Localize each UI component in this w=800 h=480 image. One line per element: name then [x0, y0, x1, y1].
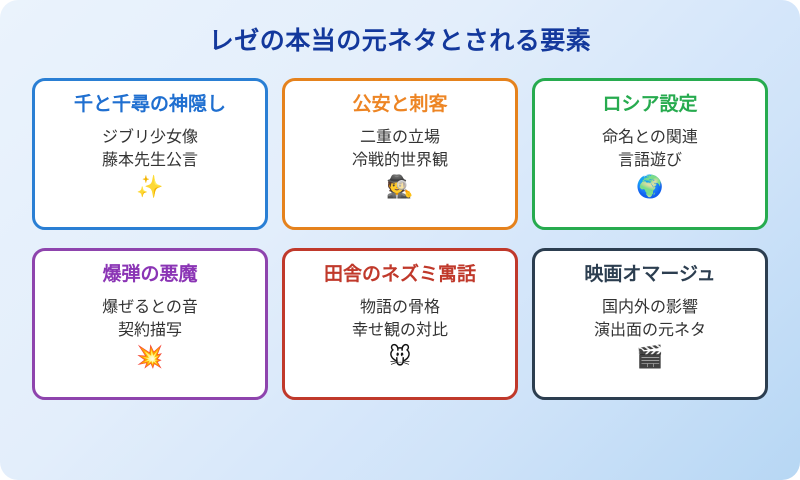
- infographic-root: レゼの本当の元ネタとされる要素 千と千尋の神隠し ジブリ少女像 藤本先生公言 ✨…: [0, 0, 800, 480]
- card-lines: 命名との関連 言語遊び: [602, 127, 698, 172]
- card-title: ロシア設定: [602, 94, 697, 116]
- card-lines: 二重の立場 冷戦的世界観: [352, 127, 448, 172]
- card-line: 二重の立場: [360, 127, 440, 149]
- card-lines: 物語の骨格 幸せ観の対比: [352, 297, 448, 342]
- card-line: 冷戦的世界観: [352, 150, 448, 172]
- card-title: 映画オマージュ: [584, 264, 715, 286]
- card-lines: 爆ぜるとの音 契約描写: [102, 297, 198, 342]
- card-line: 物語の骨格: [360, 297, 440, 319]
- card-title: 田舎のネズミ寓話: [324, 264, 476, 286]
- card-line: 言語遊び: [618, 150, 682, 172]
- card-line: 命名との関連: [602, 127, 698, 149]
- card-title: 公安と刺客: [352, 94, 447, 116]
- card-line: 演出面の元ネタ: [594, 320, 706, 342]
- card-title: 爆弾の悪魔: [102, 264, 197, 286]
- card-line: 国内外の影響: [602, 297, 698, 319]
- globe-icon: 🌍: [636, 177, 663, 199]
- card-line: 幸せ観の対比: [352, 320, 448, 342]
- card-lines: ジブリ少女像 藤本先生公言: [102, 127, 198, 172]
- detective-icon: 🕵: [386, 177, 413, 199]
- card-chihiro: 千と千尋の神隠し ジブリ少女像 藤本先生公言 ✨: [32, 78, 268, 230]
- page-title: レゼの本当の元ネタとされる要素: [209, 0, 592, 56]
- card-russia-setting: ロシア設定 命名との関連 言語遊び 🌍: [532, 78, 768, 230]
- card-country-mouse-fable: 田舎のネズミ寓話 物語の骨格 幸せ観の対比 🐭: [282, 248, 518, 400]
- card-film-homage: 映画オマージュ 国内外の影響 演出面の元ネタ 🎬: [532, 248, 768, 400]
- card-line: 契約描写: [118, 320, 182, 342]
- clapper-board-icon: 🎬: [636, 347, 663, 369]
- card-public-safety: 公安と刺客 二重の立場 冷戦的世界観 🕵: [282, 78, 518, 230]
- mouse-face-icon: 🐭: [389, 347, 412, 369]
- cards-grid: 千と千尋の神隠し ジブリ少女像 藤本先生公言 ✨ 公安と刺客 二重の立場 冷戦的…: [32, 78, 768, 400]
- card-line: ジブリ少女像: [102, 127, 198, 149]
- sparkles-icon: ✨: [136, 177, 163, 199]
- card-line: 藤本先生公言: [102, 150, 198, 172]
- explosion-icon: 💥: [136, 347, 163, 369]
- card-title: 千と千尋の神隠し: [74, 94, 226, 116]
- card-lines: 国内外の影響 演出面の元ネタ: [594, 297, 706, 342]
- card-bomb-devil: 爆弾の悪魔 爆ぜるとの音 契約描写 💥: [32, 248, 268, 400]
- card-line: 爆ぜるとの音: [102, 297, 198, 319]
